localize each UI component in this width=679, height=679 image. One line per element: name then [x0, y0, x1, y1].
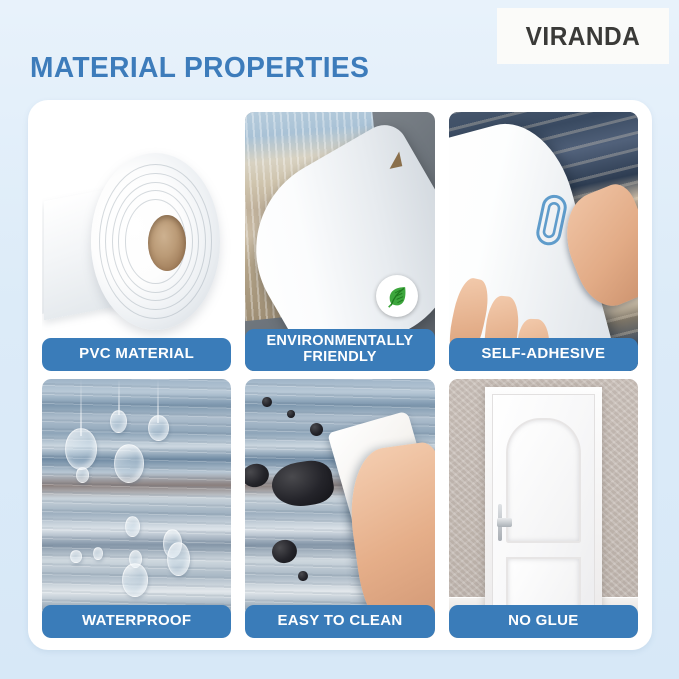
wiping-stain-photo [245, 379, 434, 638]
feature-label: EASY TO CLEAN [245, 605, 434, 638]
feature-tile-self-adhesive[interactable]: SELF-ADHESIVE [449, 112, 638, 371]
feature-label: PVC MATERIAL [42, 338, 231, 371]
feature-label-line-1: ENVIRONMENTALLY [266, 333, 413, 349]
leaf-icon [376, 275, 418, 317]
feature-label: ENVIRONMENTALLY FRIENDLY [245, 329, 434, 371]
white-door-photo [449, 379, 638, 638]
peel-backing-hands-photo [449, 112, 638, 371]
feature-label: WATERPROOF [42, 605, 231, 638]
brand-badge: VIRANDA [497, 8, 669, 64]
page-title: MATERIAL PROPERTIES [30, 52, 369, 85]
feature-card: PVC MATERIAL [28, 100, 652, 650]
door-handle [497, 518, 512, 527]
feature-tile-pvc-material[interactable]: PVC MATERIAL [42, 112, 231, 371]
feature-tile-waterproof[interactable]: WATERPROOF [42, 379, 231, 638]
feature-label: NO GLUE [449, 605, 638, 638]
feature-tile-easy-to-clean[interactable]: EASY TO CLEAN [245, 379, 434, 638]
feature-grid: PVC MATERIAL [42, 112, 638, 638]
feature-tile-environmentally-friendly[interactable]: ENVIRONMENTALLY FRIENDLY [245, 112, 434, 371]
feature-label-line-2: FRIENDLY [303, 349, 377, 365]
pvc-roll-photo [42, 112, 231, 371]
brand-name: VIRANDA [526, 21, 641, 52]
feature-label: SELF-ADHESIVE [449, 338, 638, 371]
feature-tile-no-glue[interactable]: NO GLUE [449, 379, 638, 638]
water-droplets-photo [42, 379, 231, 638]
